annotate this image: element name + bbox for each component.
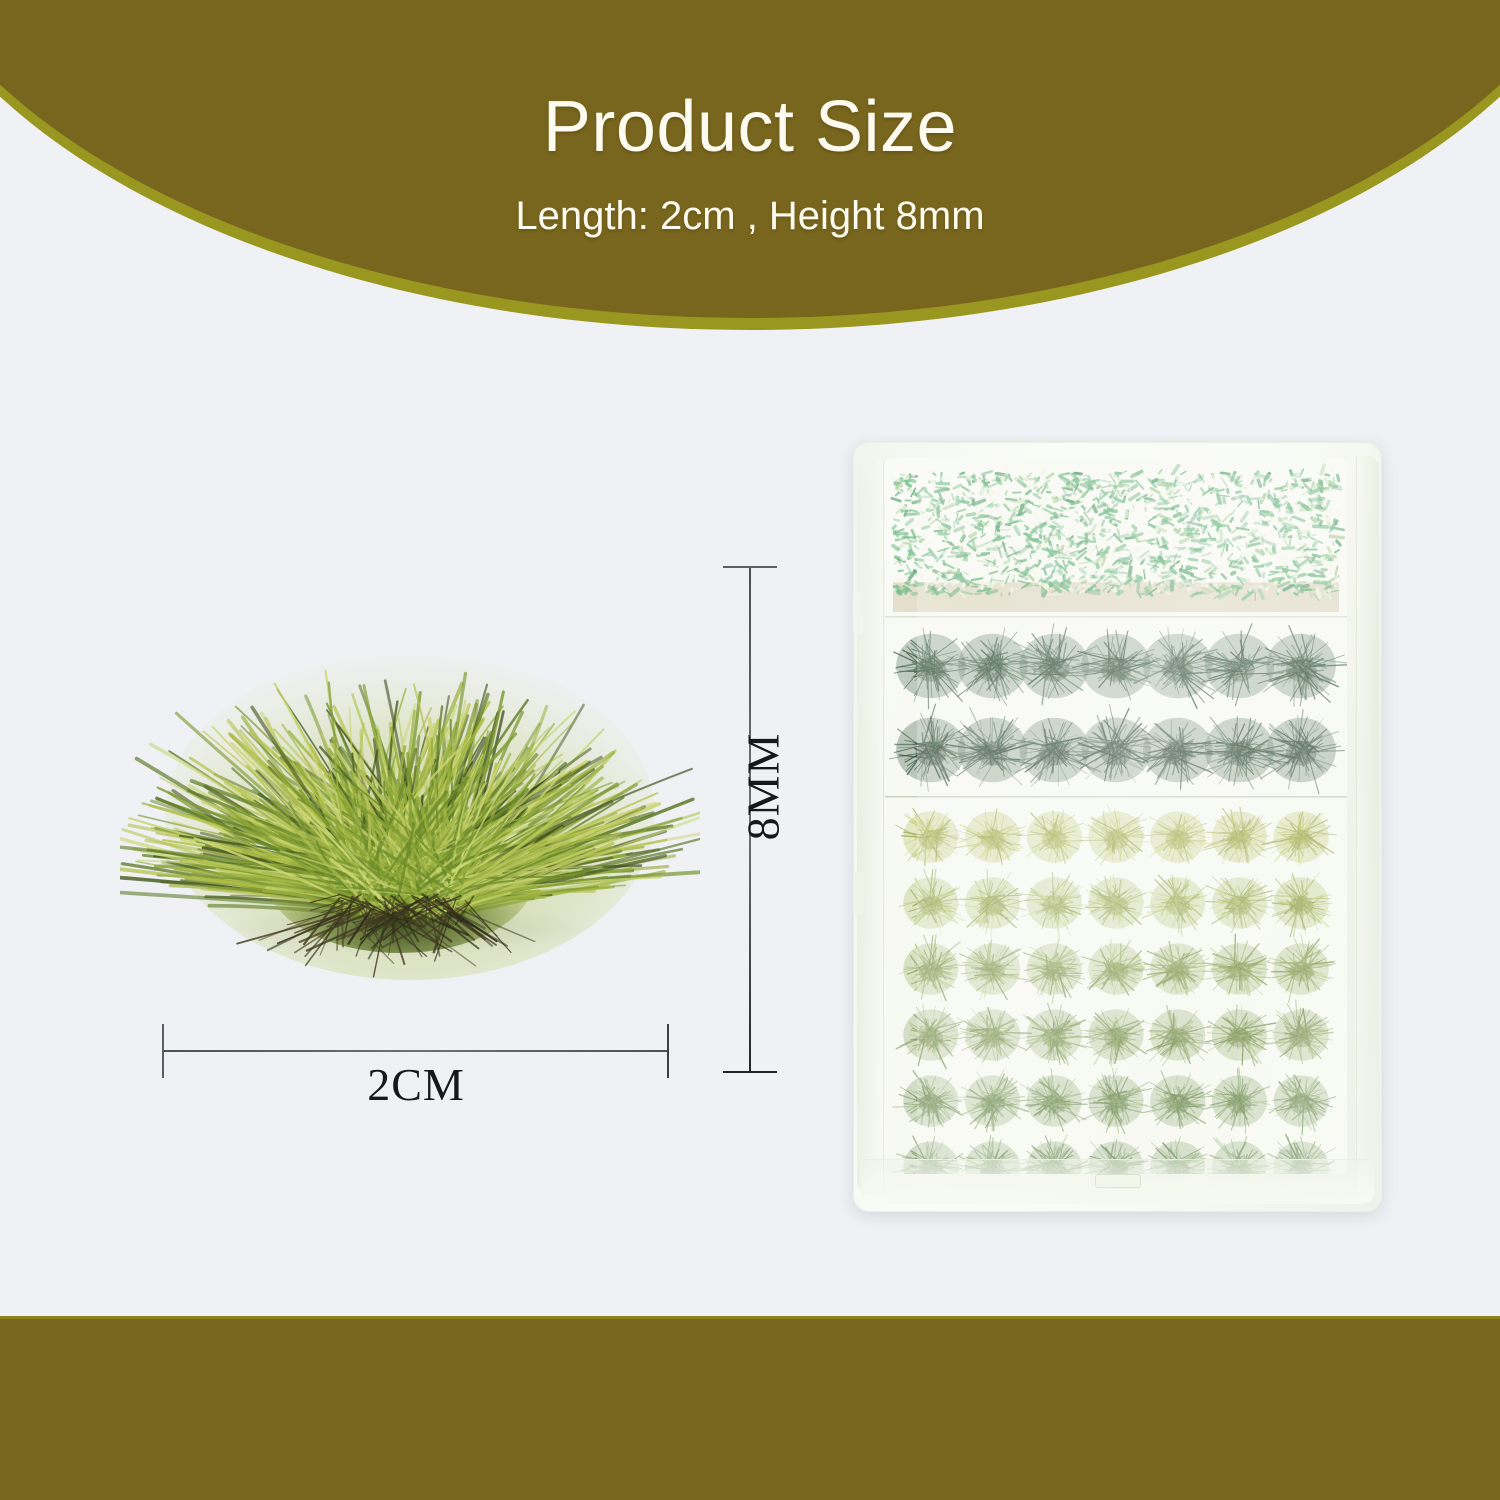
box-shell bbox=[853, 442, 1382, 1212]
product-size-infographic: Product Size Length: 2cm , Height 8mm bbox=[0, 0, 1500, 1500]
product-box-photo bbox=[853, 442, 1382, 1212]
box-edge-right bbox=[1356, 456, 1379, 1198]
box-hinge-notch-bottom bbox=[853, 872, 863, 914]
box-contents-illustration bbox=[885, 458, 1347, 1174]
footer-bar bbox=[0, 1316, 1500, 1500]
page-title: Product Size bbox=[0, 0, 1500, 168]
header-banner: Product Size Length: 2cm , Height 8mm bbox=[0, 0, 1500, 340]
box-hinge-left bbox=[857, 460, 884, 1194]
box-hinge-notch-top bbox=[853, 592, 863, 634]
page-subtitle: Length: 2cm , Height 8mm bbox=[0, 168, 1500, 239]
width-dimension-line bbox=[163, 1050, 669, 1052]
box-latch-tab bbox=[1095, 1174, 1141, 1188]
width-dimension-label: 2CM bbox=[163, 1058, 669, 1111]
height-dimension-cap-bottom bbox=[723, 1071, 777, 1073]
height-dimension-label: 8MM bbox=[737, 727, 790, 847]
header-text-block: Product Size Length: 2cm , Height 8mm bbox=[0, 0, 1500, 239]
box-inner-tray bbox=[885, 458, 1347, 1174]
grass-tuft-illustration bbox=[120, 545, 700, 1015]
grass-tuft-photo bbox=[120, 545, 700, 1015]
